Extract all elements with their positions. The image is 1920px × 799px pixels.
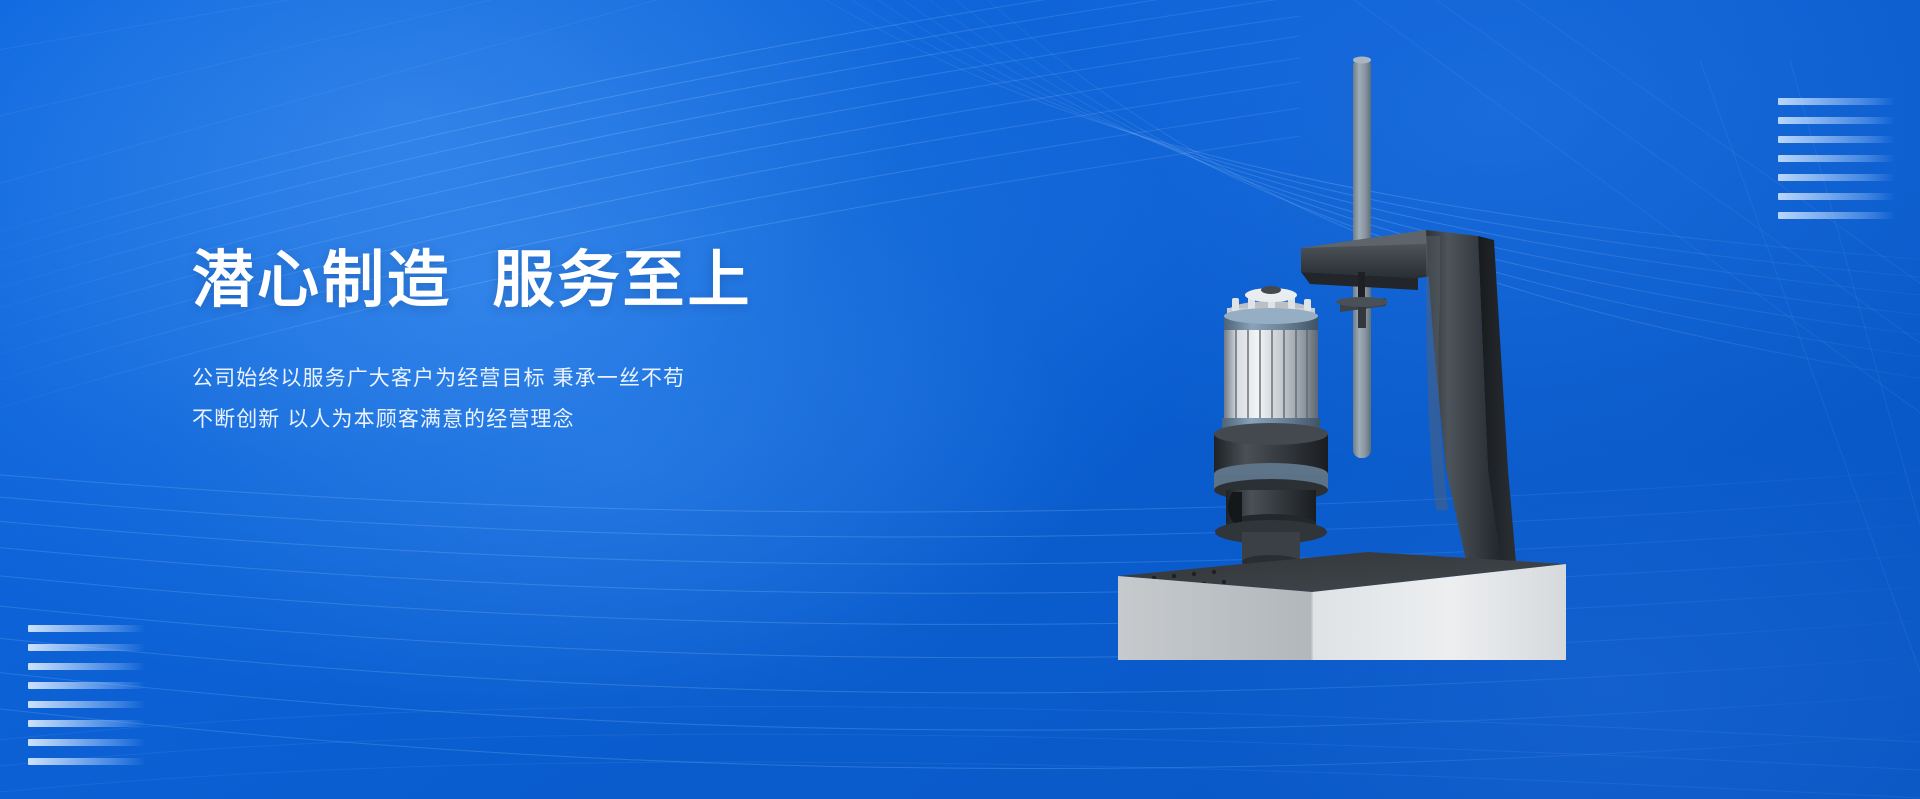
lower-hub-part [1214,423,1328,569]
background-glow-mid-left [120,150,1120,770]
filter-cartridge-part [1222,286,1320,445]
accent-bar [28,682,144,689]
base-cabinet-part [1118,552,1566,660]
accent-bar [1778,174,1894,181]
accent-bar [28,739,144,746]
accent-bar [1778,98,1894,105]
accent-bar [1778,193,1894,200]
banner-subtitle-line-1: 公司始终以服务广大客户为经营目标 秉承一丝不苟 [192,359,952,400]
accent-bar [28,720,144,727]
accent-bar [1778,155,1894,162]
hero-banner: 潜心制造 服务至上 公司始终以服务广大客户为经营目标 秉承一丝不苟 不断创新 以… [0,0,1920,799]
banner-copy: 潜心制造 服务至上 公司始终以服务广大客户为经营目标 秉承一丝不苟 不断创新 以… [192,246,952,441]
accent-bar [28,625,144,632]
accent-bar [1778,117,1894,124]
curved-support-column-part [1426,230,1516,562]
accent-bar [28,644,144,651]
banner-subtitle: 公司始终以服务广大客户为经营目标 秉承一丝不苟 不断创新 以人为本顾客满意的经营… [192,359,952,441]
accent-bars-right [1778,98,1894,231]
banner-headline: 潜心制造 服务至上 [192,246,952,315]
accent-bar [1778,212,1894,219]
accent-bar [1778,136,1894,143]
accent-bar [28,701,144,708]
product-machine-illustration [1096,40,1656,660]
accent-bar [28,758,144,765]
accent-bar [28,663,144,670]
banner-subtitle-line-2: 不断创新 以人为本顾客满意的经营理念 [192,400,952,441]
accent-bars-left [28,625,144,777]
